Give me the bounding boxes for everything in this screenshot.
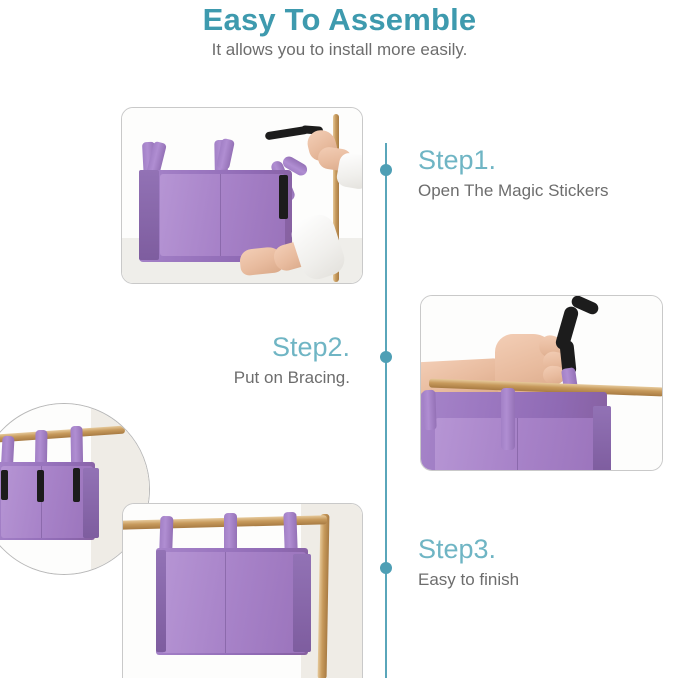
infographic-root: Easy To Assemble It allows you to instal… — [0, 0, 679, 678]
velcro-patch-left — [1, 470, 8, 500]
step-1-heading: Step1. — [418, 146, 609, 174]
step-1-photo — [121, 107, 363, 284]
step-3-scene — [123, 504, 362, 678]
step-1-scene — [122, 108, 362, 283]
timeline-dot-step-1 — [380, 164, 392, 176]
organizer-side-panel — [139, 170, 159, 260]
timeline-dot-step-3 — [380, 562, 392, 574]
step-2-description: Put on Bracing. — [60, 368, 350, 388]
step-3-description: Easy to finish — [418, 570, 519, 590]
velcro-patch-right — [73, 468, 80, 502]
strap-left — [422, 390, 436, 430]
pocket-divider-seam — [220, 174, 221, 256]
pocket-divider-seam — [225, 552, 226, 653]
strap-center — [501, 388, 515, 450]
step-1-description: Open The Magic Stickers — [418, 181, 609, 201]
organizer-front-pocket — [162, 552, 306, 653]
step-2-scene — [421, 296, 662, 470]
organizer-side-panel — [593, 406, 611, 471]
velcro-patch — [279, 175, 288, 219]
step-3-text: Step3. Easy to finish — [418, 535, 519, 591]
organizer-side-panel — [83, 468, 99, 538]
organizer-side-panel — [293, 554, 311, 652]
page-subtitle: It allows you to install more easily. — [0, 40, 679, 60]
step-2-text: Step2. Put on Bracing. — [60, 333, 350, 389]
page-title: Easy To Assemble — [0, 2, 679, 38]
organizer-front-pocket — [435, 418, 607, 471]
step-3-heading: Step3. — [418, 535, 519, 563]
timeline-track — [385, 143, 387, 678]
velcro-patch-center — [37, 470, 44, 502]
organizer-front-pocket — [160, 174, 285, 256]
step-2-photo — [420, 295, 663, 471]
step-3-photo — [122, 503, 363, 678]
organizer-side-panel-left — [156, 550, 166, 652]
step-1-text: Step1. Open The Magic Stickers — [418, 146, 609, 202]
pocket-divider-seam — [517, 418, 518, 471]
step-2-heading: Step2. — [60, 333, 350, 361]
timeline-dot-step-2 — [380, 351, 392, 363]
